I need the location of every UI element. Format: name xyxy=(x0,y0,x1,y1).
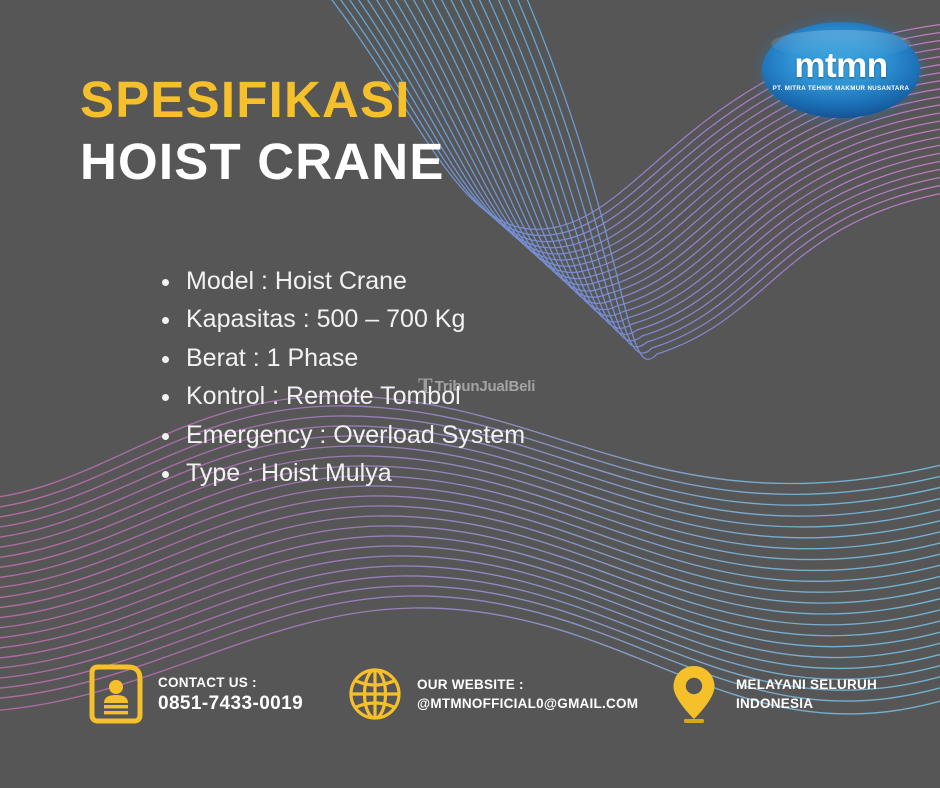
bullet-dot-icon xyxy=(162,317,169,324)
location-line-1: MELAYANI SELURUH xyxy=(736,675,877,694)
bullet-dot-icon xyxy=(162,279,169,286)
bullet-dot-icon xyxy=(162,433,169,440)
spec-text: Berat : 1 Phase xyxy=(186,344,358,372)
list-item: Emergency : Overload System xyxy=(158,416,525,454)
list-item: Berat : 1 Phase xyxy=(158,339,525,377)
website-email[interactable]: @MTMNOFFICIAL0@GMAIL.COM xyxy=(417,694,638,713)
poster-canvas: mtmn PT. MITRA TEHNIK MAKMUR NUSANTARA S… xyxy=(0,0,940,788)
list-item: Model : Hoist Crane xyxy=(158,262,525,300)
contact-card-icon xyxy=(88,663,144,725)
spec-text: Type : Hoist Mulya xyxy=(186,459,392,487)
spec-text: Emergency : Overload System xyxy=(186,421,525,449)
list-item: Kontrol : Remote Tombol xyxy=(158,377,525,415)
bullet-dot-icon xyxy=(162,471,169,478)
list-item: Type : Hoist Mulya xyxy=(158,454,525,492)
logo-tagline: PT. MITRA TEHNIK MAKMUR NUSANTARA xyxy=(762,86,920,92)
footer-location-item[interactable]: MELAYANI SELURUH INDONESIA xyxy=(666,663,877,725)
footer-website-item[interactable]: OUR WEBSITE : @MTMNOFFICIAL0@GMAIL.COM xyxy=(347,663,638,725)
footer-contact-item[interactable]: CONTACT US : 0851-7433-0019 xyxy=(88,663,303,725)
map-pin-icon xyxy=(666,663,722,725)
location-line-2: INDONESIA xyxy=(736,694,877,713)
heading-spesifikasi: SPESIFIKASI xyxy=(80,74,411,125)
globe-icon xyxy=(347,663,403,725)
bullet-dot-icon xyxy=(162,394,169,401)
bullet-dot-icon xyxy=(162,356,169,363)
website-label: OUR WEBSITE : xyxy=(417,675,638,694)
heading-product-name: HOIST CRANE xyxy=(80,136,445,187)
company-logo: mtmn PT. MITRA TEHNIK MAKMUR NUSANTARA xyxy=(762,22,920,118)
list-item: Kapasitas : 500 – 700 Kg xyxy=(158,300,525,338)
specification-list: Model : Hoist Crane Kapasitas : 500 – 70… xyxy=(158,262,525,492)
spec-text: Model : Hoist Crane xyxy=(186,267,407,295)
website-text-block: OUR WEBSITE : @MTMNOFFICIAL0@GMAIL.COM xyxy=(417,675,638,713)
contact-text-block: CONTACT US : 0851-7433-0019 xyxy=(158,673,303,716)
contact-label: CONTACT US : xyxy=(158,673,303,692)
spec-text: Kapasitas : 500 – 700 Kg xyxy=(186,305,465,333)
contact-phone-number[interactable]: 0851-7433-0019 xyxy=(158,692,303,716)
location-text-block: MELAYANI SELURUH INDONESIA xyxy=(736,675,877,713)
logo-wordmark: mtmn xyxy=(762,48,920,83)
footer-bar: CONTACT US : 0851-7433-0019 OUR WEBSITE … xyxy=(0,655,940,745)
spec-text: Kontrol : Remote Tombol xyxy=(186,382,461,410)
